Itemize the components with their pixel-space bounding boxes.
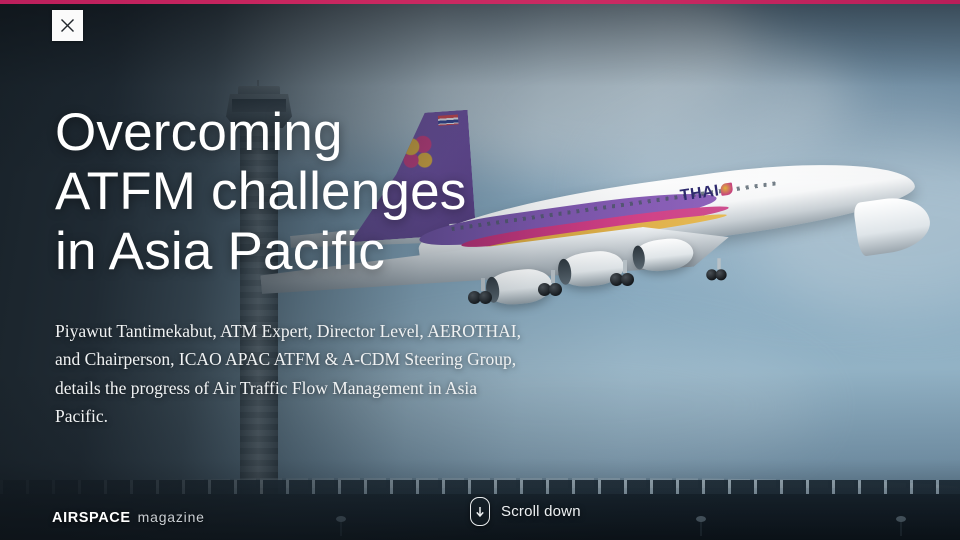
scroll-down-icon (470, 497, 490, 526)
scroll-down-label: Scroll down (501, 503, 581, 520)
logo-word: magazine (138, 509, 205, 525)
standfirst: Piyawut Tantimekabut, ATM Expert, Direct… (55, 317, 525, 430)
accent-bar (0, 0, 960, 4)
arrow-down-icon (475, 506, 485, 518)
page-title: Overcoming ATFM challenges in Asia Pacif… (55, 103, 615, 281)
logo-mark: AIRSPACE (52, 510, 131, 526)
close-icon (60, 18, 75, 33)
hero-content: Overcoming ATFM challenges in Asia Pacif… (55, 103, 615, 430)
scroll-down-cue[interactable]: Scroll down (470, 497, 581, 526)
hero-slide: THAI Overcoming (0, 0, 960, 540)
site-logo[interactable]: AIRSPACE magazine (52, 509, 205, 526)
close-button[interactable] (52, 10, 83, 41)
